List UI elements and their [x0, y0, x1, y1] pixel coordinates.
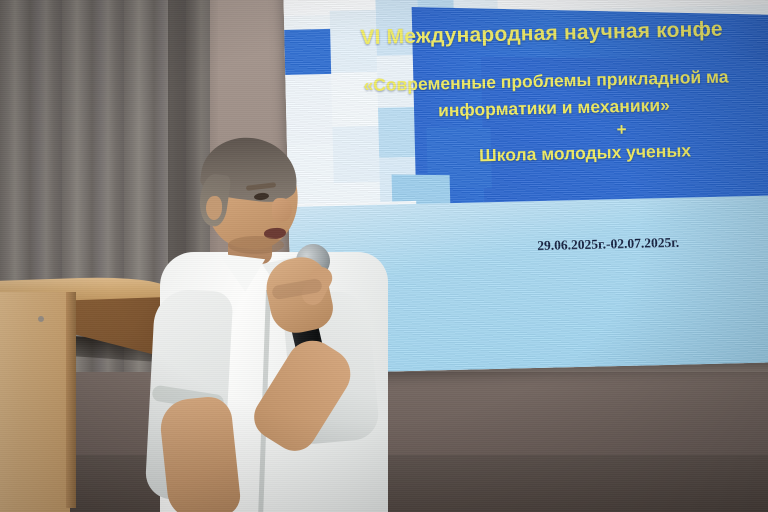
- slide-date-range: 29.06.2025г.-02.07.2025г.: [537, 235, 679, 254]
- lectern-knob: [38, 316, 44, 322]
- lectern-side-edge: [66, 292, 76, 508]
- speaker-ear: [206, 196, 222, 220]
- slide-title: VI Международная научная конфе: [360, 15, 768, 50]
- slide-subtitle-line-1: «Современные проблемы прикладной ма: [363, 64, 768, 96]
- slide-subtitle-line-3: Школа молодых ученых: [479, 137, 768, 166]
- speaker-chin-shadow: [228, 236, 284, 254]
- slide-plus-symbol: +: [616, 120, 626, 140]
- presentation-photo-scene: ...СТВЕННЫЙ УНИВЕРСИТЕТ ИМ. Х. М. БЕРБЕК…: [0, 0, 768, 512]
- lectern-body: [0, 292, 70, 512]
- speaker-left-forearm: [158, 395, 242, 512]
- slide-subtitle-line-2: информатики и механики»: [438, 91, 768, 121]
- speaker-figure: [150, 140, 410, 512]
